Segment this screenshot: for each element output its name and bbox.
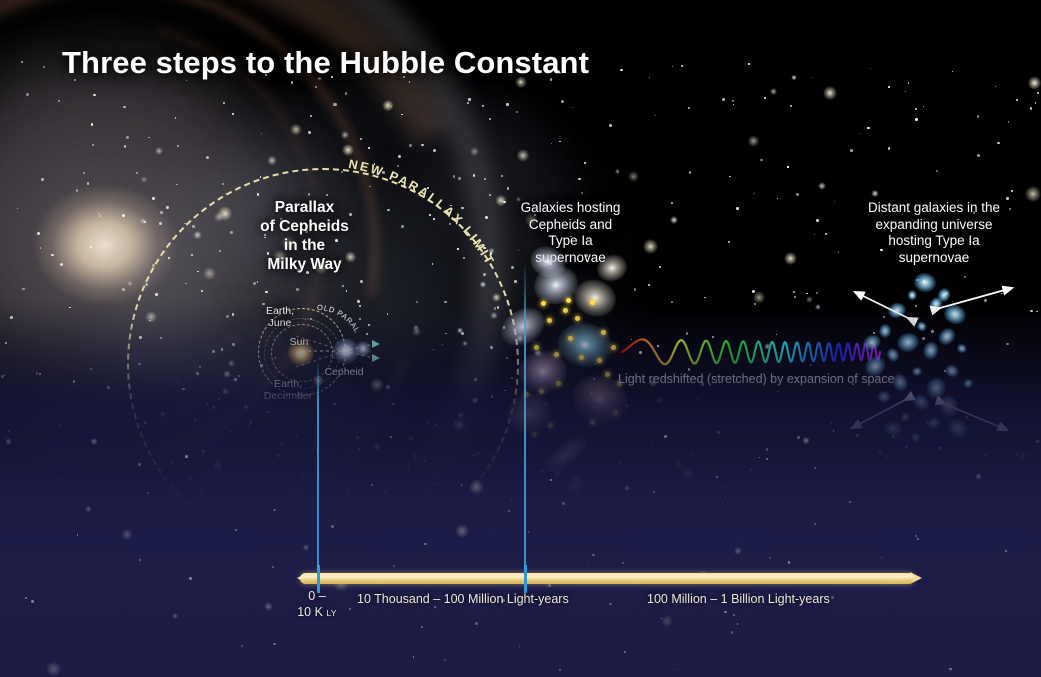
lower-sky-gradient-2 — [0, 447, 1041, 677]
infographic-canvas: Three steps to the Hubble Constant NEW P… — [0, 0, 1041, 677]
scale-label-segment2: 100 Million – 1 Billion Light-years — [647, 592, 830, 606]
tick-guide-milky-way — [317, 360, 319, 578]
panel-caption-parallax: Parallax of Cepheids in the Milky Way — [232, 198, 377, 274]
scale-label-unit: LY — [326, 608, 336, 618]
tick-guide-host-galaxies — [524, 262, 526, 578]
distant-galaxy — [908, 290, 917, 300]
scale-tick-100m — [524, 565, 527, 593]
scale-label-segment1: 10 Thousand – 100 Million Light-years — [357, 592, 569, 606]
panel-caption-distant-galaxies: Distant galaxies in the expanding univer… — [848, 200, 1020, 266]
page-title: Three steps to the Hubble Constant — [62, 45, 589, 81]
scale-label-left: 0 – 10 K LY — [282, 589, 352, 620]
scale-bar-track — [300, 573, 914, 584]
